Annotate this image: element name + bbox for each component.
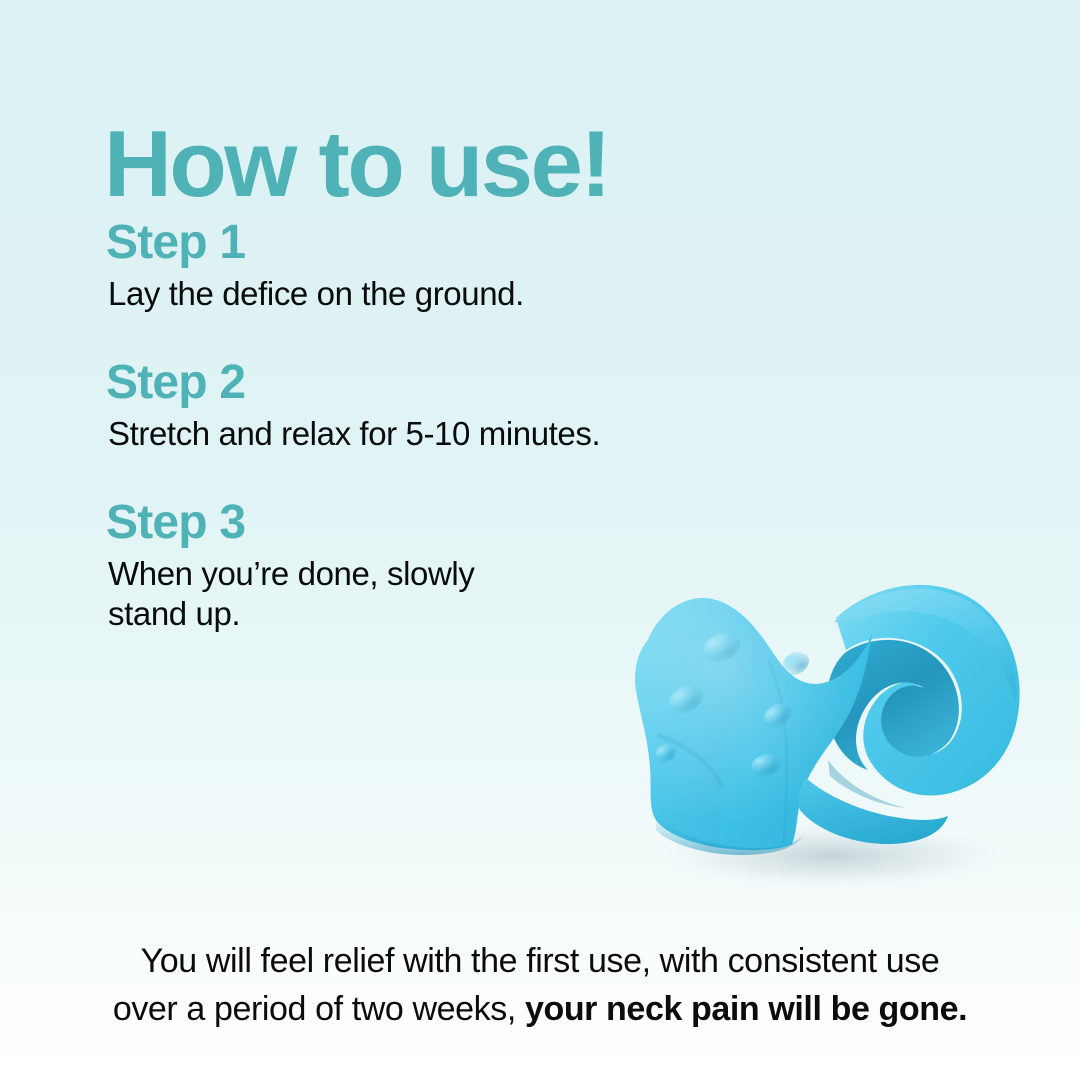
caption-line-2-normal: over a period of two weeks,: [113, 990, 525, 1028]
step-item-1: Step 1 Lay the defice on the ground.: [106, 216, 726, 314]
step-2-text: Stretch and relax for 5-10 minutes.: [106, 414, 726, 454]
page-title: How to use!: [104, 115, 609, 214]
caption-line-1: You will feel relief with the first use,…: [46, 938, 1034, 986]
step-2-heading: Step 2: [106, 356, 726, 410]
caption-emphasis: your neck pain will be gone.: [525, 990, 967, 1028]
step-1-text: Lay the defice on the ground.: [106, 274, 726, 314]
product-image-neck-stretcher: [600, 548, 1040, 918]
step-3-heading: Step 3: [106, 496, 726, 550]
caption-line-2: over a period of two weeks, your neck pa…: [46, 986, 1034, 1034]
step-1-heading: Step 1: [106, 216, 726, 270]
poster-canvas: How to use! Step 1 Lay the defice on the…: [0, 0, 1080, 1080]
step-item-2: Step 2 Stretch and relax for 5-10 minute…: [106, 356, 726, 454]
footer-caption: You will feel relief with the first use,…: [0, 938, 1080, 1033]
